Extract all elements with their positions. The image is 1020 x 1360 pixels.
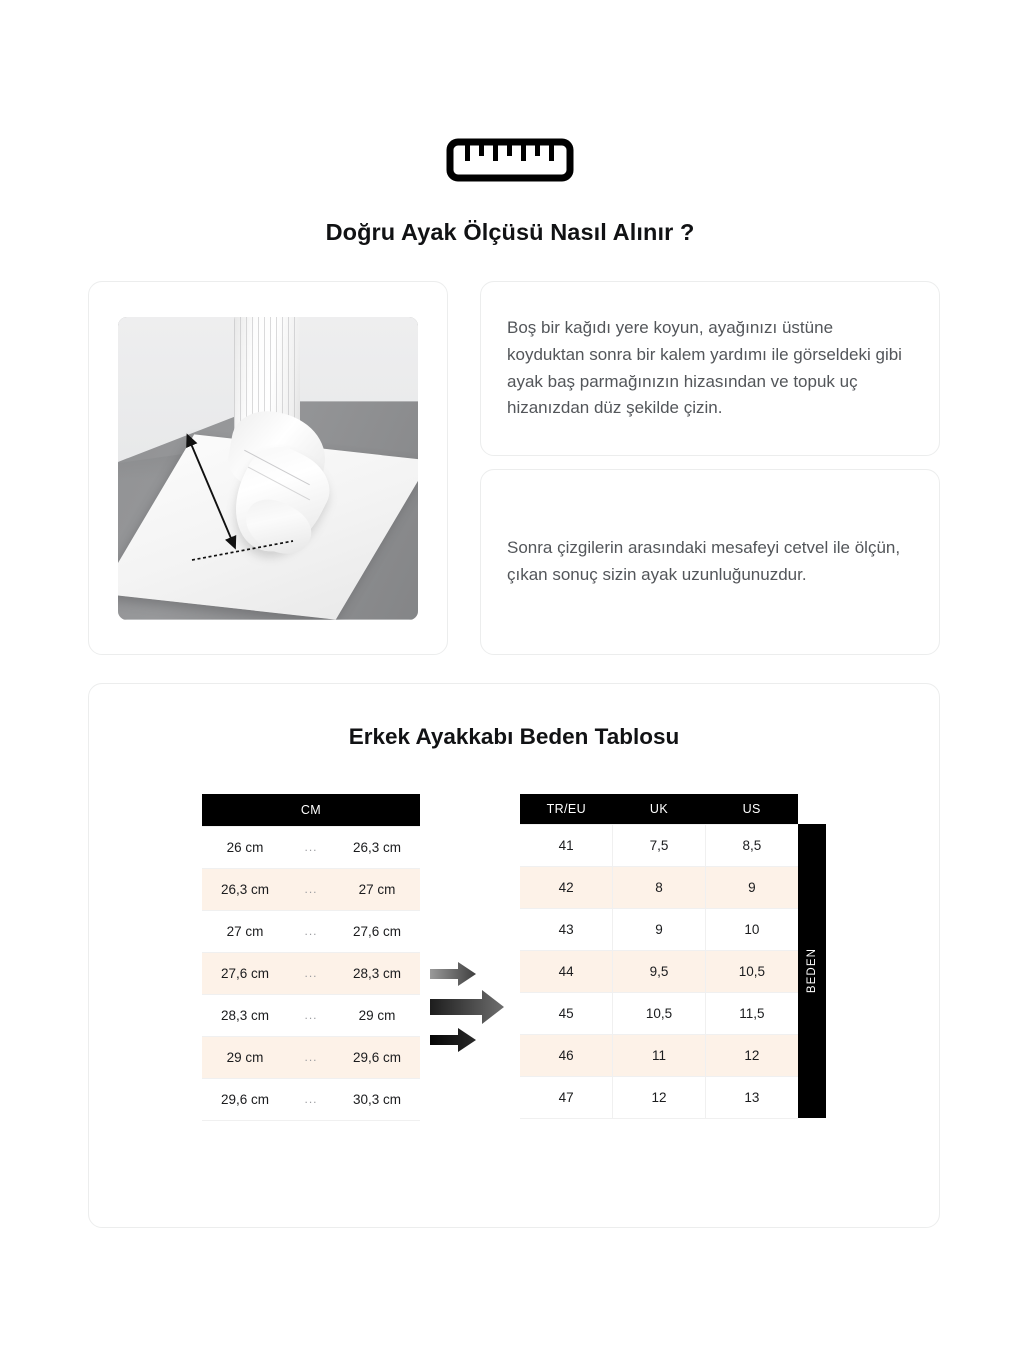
table-row: 27 cm ... 27,6 cm bbox=[202, 910, 420, 952]
cell-uk: 9 bbox=[613, 908, 706, 950]
cm-to: 27 cm bbox=[334, 868, 420, 910]
measure-arrow-icon bbox=[118, 317, 418, 620]
size-table-header-row: TR/EU UK US bbox=[520, 794, 798, 824]
three-right-arrows-icon bbox=[428, 961, 512, 1053]
cell-treu: 42 bbox=[520, 866, 613, 908]
cm-from: 26 cm bbox=[202, 826, 288, 868]
table-row: 47 12 13 bbox=[520, 1076, 798, 1118]
cm-header-cell: CM bbox=[202, 794, 420, 826]
cm-table-body: 26 cm ... 26,3 cm 26,3 cm ... 27 cm 27 c… bbox=[202, 826, 420, 1120]
cell-treu: 41 bbox=[520, 824, 613, 866]
cell-treu: 46 bbox=[520, 1034, 613, 1076]
table-row: 28,3 cm ... 29 cm bbox=[202, 994, 420, 1036]
cm-separator: ... bbox=[288, 1078, 334, 1120]
cell-us: 11,5 bbox=[705, 992, 798, 1034]
cell-uk: 9,5 bbox=[613, 950, 706, 992]
instruction-text-1: Boş bir kağıdı yere koyun, ayağınızı üst… bbox=[481, 315, 939, 421]
cell-us: 9 bbox=[705, 866, 798, 908]
cm-to: 29,6 cm bbox=[334, 1036, 420, 1078]
table-row: 26 cm ... 26,3 cm bbox=[202, 826, 420, 868]
ruler-icon bbox=[446, 138, 574, 182]
cm-to: 30,3 cm bbox=[334, 1078, 420, 1120]
cm-to: 29 cm bbox=[334, 994, 420, 1036]
table-row: 46 11 12 bbox=[520, 1034, 798, 1076]
column-header-treu: TR/EU bbox=[520, 794, 613, 824]
cm-separator: ... bbox=[288, 1036, 334, 1078]
size-table-wrap: TR/EU UK US 41 7,5 8,5 42 8 bbox=[520, 794, 826, 1119]
cell-uk: 10,5 bbox=[613, 992, 706, 1034]
cm-separator: ... bbox=[288, 910, 334, 952]
size-table-title: Erkek Ayakkabı Beden Tablosu bbox=[89, 724, 939, 750]
table-row: 41 7,5 8,5 bbox=[520, 824, 798, 866]
cell-uk: 12 bbox=[613, 1076, 706, 1118]
size-table-card: Erkek Ayakkabı Beden Tablosu CM 26 cm ..… bbox=[88, 683, 940, 1228]
cm-separator: ... bbox=[288, 994, 334, 1036]
cm-from: 26,3 cm bbox=[202, 868, 288, 910]
cm-table-head: CM bbox=[202, 794, 420, 826]
cell-uk: 7,5 bbox=[613, 824, 706, 866]
instruction-card-2: Sonra çizgilerin arasındaki mesafeyi cet… bbox=[480, 469, 940, 655]
table-row: 29,6 cm ... 30,3 cm bbox=[202, 1078, 420, 1120]
cell-us: 8,5 bbox=[705, 824, 798, 866]
page-title: Doğru Ayak Ölçüsü Nasıl Alınır ? bbox=[0, 219, 1020, 246]
cm-separator: ... bbox=[288, 952, 334, 994]
cm-from: 28,3 cm bbox=[202, 994, 288, 1036]
table-row: 43 9 10 bbox=[520, 908, 798, 950]
cell-us: 12 bbox=[705, 1034, 798, 1076]
arrows-container bbox=[420, 794, 520, 1121]
instruction-card-1: Boş bir kağıdı yere koyun, ayağınızı üst… bbox=[480, 281, 940, 456]
table-row: 27,6 cm ... 28,3 cm bbox=[202, 952, 420, 994]
table-row: 44 9,5 10,5 bbox=[520, 950, 798, 992]
size-tables-row: CM 26 cm ... 26,3 cm 26,3 cm ... 27 cm bbox=[89, 794, 939, 1121]
size-table: TR/EU UK US 41 7,5 8,5 42 8 bbox=[520, 794, 798, 1119]
beden-side-label: BEDEN bbox=[798, 824, 826, 1118]
foot-measure-photo-card bbox=[88, 281, 448, 655]
cell-uk: 8 bbox=[613, 866, 706, 908]
instruction-text-2: Sonra çizgilerin arasındaki mesafeyi cet… bbox=[481, 535, 939, 588]
table-row: 45 10,5 11,5 bbox=[520, 992, 798, 1034]
table-row: 42 8 9 bbox=[520, 866, 798, 908]
table-row: 26,3 cm ... 27 cm bbox=[202, 868, 420, 910]
cm-table: CM 26 cm ... 26,3 cm 26,3 cm ... 27 cm bbox=[202, 794, 420, 1121]
cell-treu: 43 bbox=[520, 908, 613, 950]
cm-separator: ... bbox=[288, 826, 334, 868]
cm-from: 29 cm bbox=[202, 1036, 288, 1078]
beden-label-text: BEDEN bbox=[806, 948, 818, 993]
cell-treu: 47 bbox=[520, 1076, 613, 1118]
cell-treu: 45 bbox=[520, 992, 613, 1034]
cell-treu: 44 bbox=[520, 950, 613, 992]
instructions-section: Boş bir kağıdı yere koyun, ayağınızı üst… bbox=[88, 281, 940, 655]
column-header-uk: UK bbox=[613, 794, 706, 824]
cell-uk: 11 bbox=[613, 1034, 706, 1076]
cm-from: 27,6 cm bbox=[202, 952, 288, 994]
column-header-us: US bbox=[705, 794, 798, 824]
ruler-icon-container bbox=[0, 138, 1020, 182]
cm-from: 29,6 cm bbox=[202, 1078, 288, 1120]
cm-to: 27,6 cm bbox=[334, 910, 420, 952]
cm-to: 28,3 cm bbox=[334, 952, 420, 994]
table-row: 29 cm ... 29,6 cm bbox=[202, 1036, 420, 1078]
cell-us: 10 bbox=[705, 908, 798, 950]
cm-to: 26,3 cm bbox=[334, 826, 420, 868]
size-guide-page: Doğru Ayak Ölçüsü Nasıl Alınır ? bbox=[0, 0, 1020, 1360]
size-table-head: TR/EU UK US bbox=[520, 794, 798, 824]
cm-from: 27 cm bbox=[202, 910, 288, 952]
cell-us: 13 bbox=[705, 1076, 798, 1118]
size-table-body: 41 7,5 8,5 42 8 9 43 9 10 bbox=[520, 824, 798, 1118]
cm-separator: ... bbox=[288, 868, 334, 910]
cm-table-header-row: CM bbox=[202, 794, 420, 826]
cell-us: 10,5 bbox=[705, 950, 798, 992]
foot-on-paper-photo bbox=[118, 317, 418, 620]
